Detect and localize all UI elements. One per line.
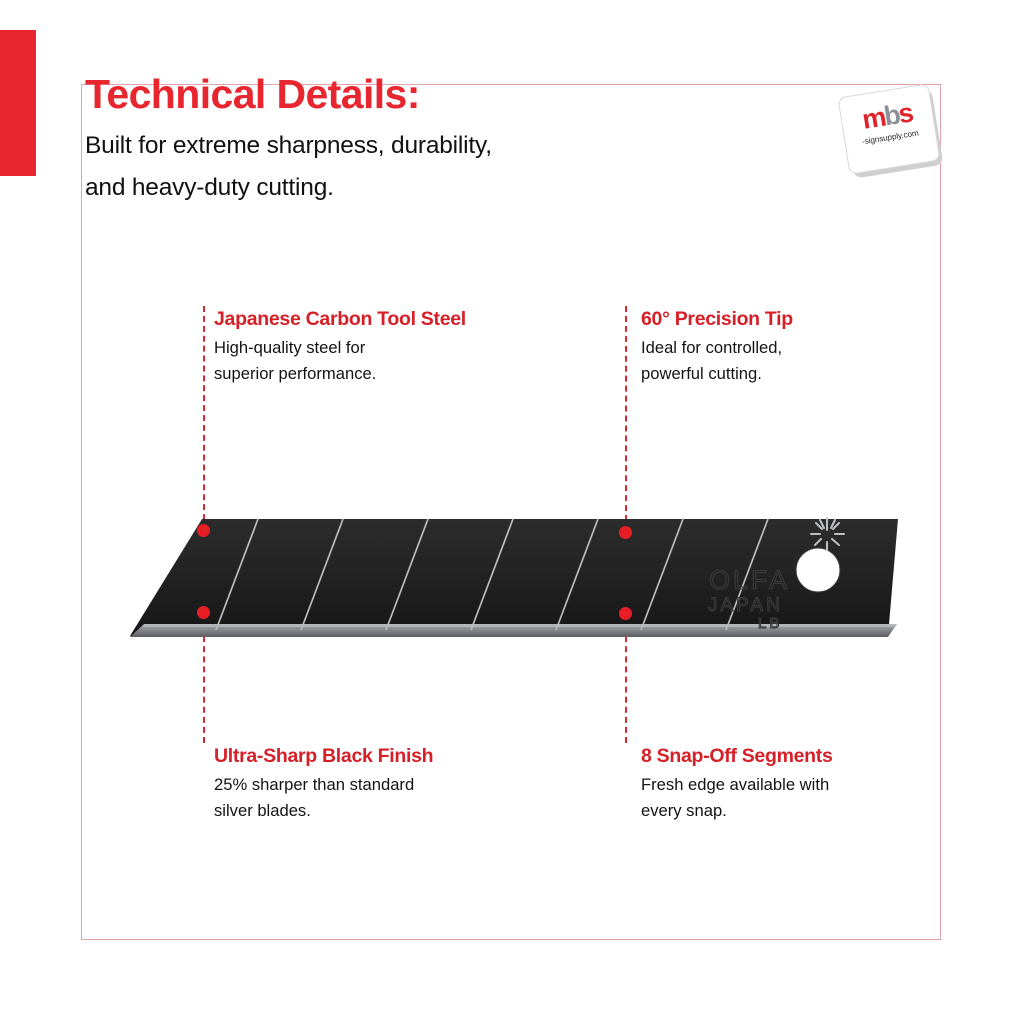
callout-body: Ideal for controlled, powerful cutting. <box>641 335 793 386</box>
blade-graphic: OLFA JAPAN LB <box>108 500 908 660</box>
connector-dot-bottom-right <box>619 607 632 620</box>
connector-dot-bottom-left <box>197 606 210 619</box>
callout-body-line-2: every snap. <box>641 798 833 824</box>
connector-dot-top-right <box>619 526 632 539</box>
callout-body: High-quality steel for superior performa… <box>214 335 466 386</box>
logo-card-face: mbs -signsupply.com <box>837 83 940 174</box>
logo-content: mbs -signsupply.com <box>840 96 935 149</box>
page-title: Technical Details: <box>85 74 705 115</box>
brand-logo: mbs -signsupply.com <box>843 90 941 174</box>
callout-title: Japanese Carbon Tool Steel <box>214 308 466 331</box>
leader-line-top-left <box>203 306 205 530</box>
blade-code-text: LB <box>758 615 782 632</box>
connector-dot-top-left <box>197 524 210 537</box>
leader-line-top-right <box>625 306 627 531</box>
blade-brand-text: OLFA <box>709 565 790 595</box>
callout-title: Ultra-Sharp Black Finish <box>214 745 433 768</box>
left-accent-bar <box>0 30 36 176</box>
subtitle-line-1: Built for extreme sharpness, durability, <box>85 125 705 167</box>
callout-precision-tip: 60° Precision Tip Ideal for controlled, … <box>641 308 793 386</box>
callout-body-line-1: 25% sharper than standard <box>214 772 433 798</box>
callout-body: Fresh edge available with every snap. <box>641 772 833 823</box>
blade-edge-highlight <box>143 624 897 627</box>
blade-illustration: OLFA JAPAN LB <box>108 500 908 660</box>
callout-title: 8 Snap-Off Segments <box>641 745 833 768</box>
callout-japanese-carbon-tool-steel: Japanese Carbon Tool Steel High-quality … <box>214 308 466 386</box>
callout-ultra-sharp-black-finish: Ultra-Sharp Black Finish 25% sharper tha… <box>214 745 433 823</box>
callout-body: 25% sharper than standard silver blades. <box>214 772 433 823</box>
callout-body-line-2: superior performance. <box>214 361 466 387</box>
callout-body-line-2: powerful cutting. <box>641 361 793 387</box>
callout-body-line-1: Fresh edge available with <box>641 772 833 798</box>
blade-origin-text: JAPAN <box>708 595 783 616</box>
callout-body-line-2: silver blades. <box>214 798 433 824</box>
callout-snap-off-segments: 8 Snap-Off Segments Fresh edge available… <box>641 745 833 823</box>
callout-title: 60° Precision Tip <box>641 308 793 331</box>
header: Technical Details: Built for extreme sha… <box>85 74 705 210</box>
callout-body-line-1: High-quality steel for <box>214 335 466 361</box>
subtitle-line-2: and heavy-duty cutting. <box>85 167 705 209</box>
infographic-canvas: Technical Details: Built for extreme sha… <box>0 0 1024 1024</box>
page-subtitle: Built for extreme sharpness, durability,… <box>85 125 705 210</box>
callout-body-line-1: Ideal for controlled, <box>641 335 793 361</box>
